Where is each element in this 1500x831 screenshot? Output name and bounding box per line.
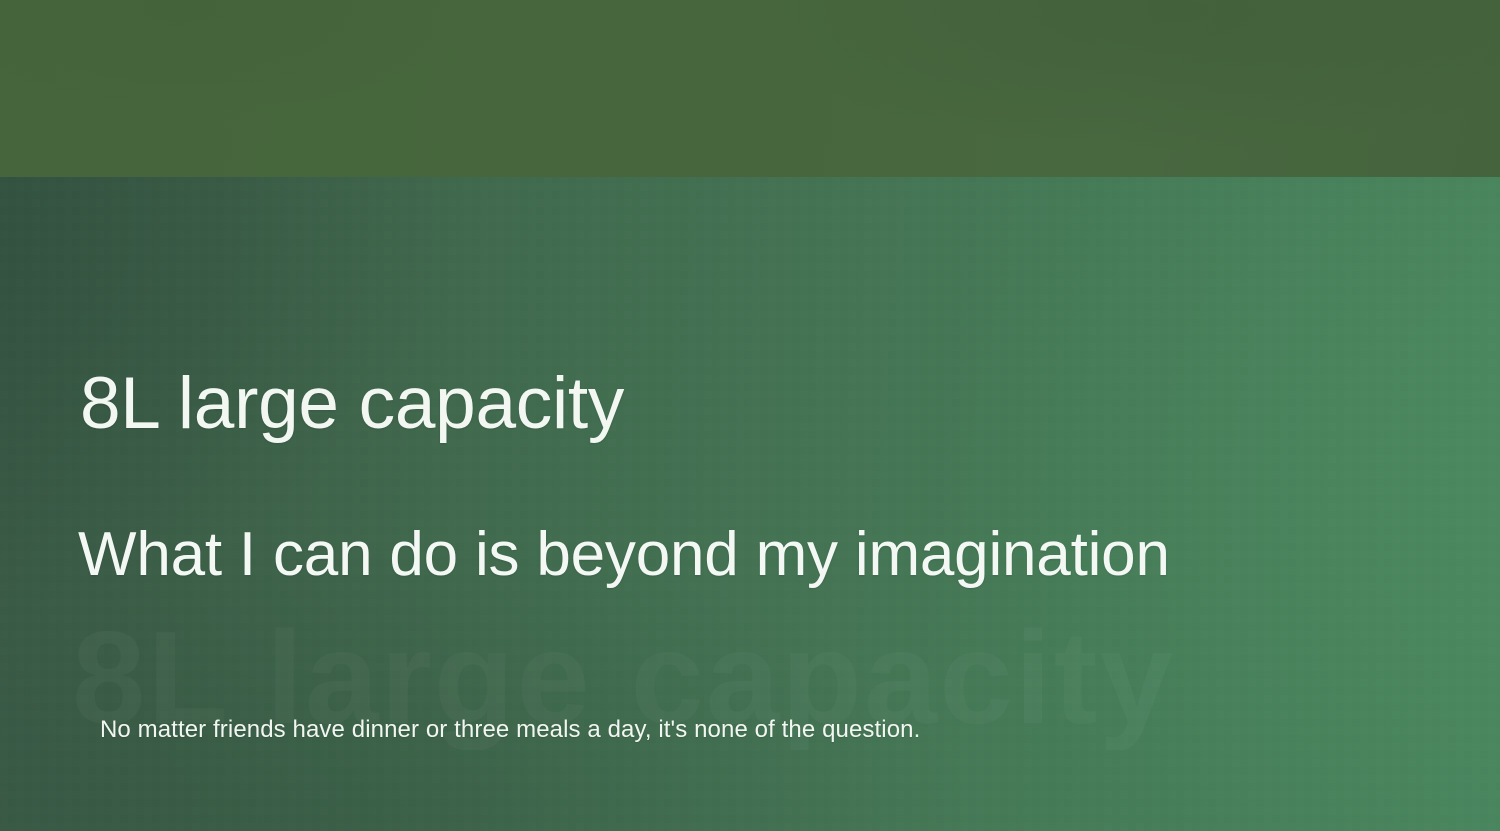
caption-text: No matter friends have dinner or three m… xyxy=(100,716,920,745)
top-color-band xyxy=(0,0,1500,177)
slide-content: 8L large capacity 8L large capacity What… xyxy=(0,177,1500,831)
headline: 8L large capacity xyxy=(80,367,624,440)
promo-slide: 8L large capacity 8L large capacity What… xyxy=(0,0,1500,831)
subheadline: What I can do is beyond my imagination xyxy=(78,524,1170,586)
